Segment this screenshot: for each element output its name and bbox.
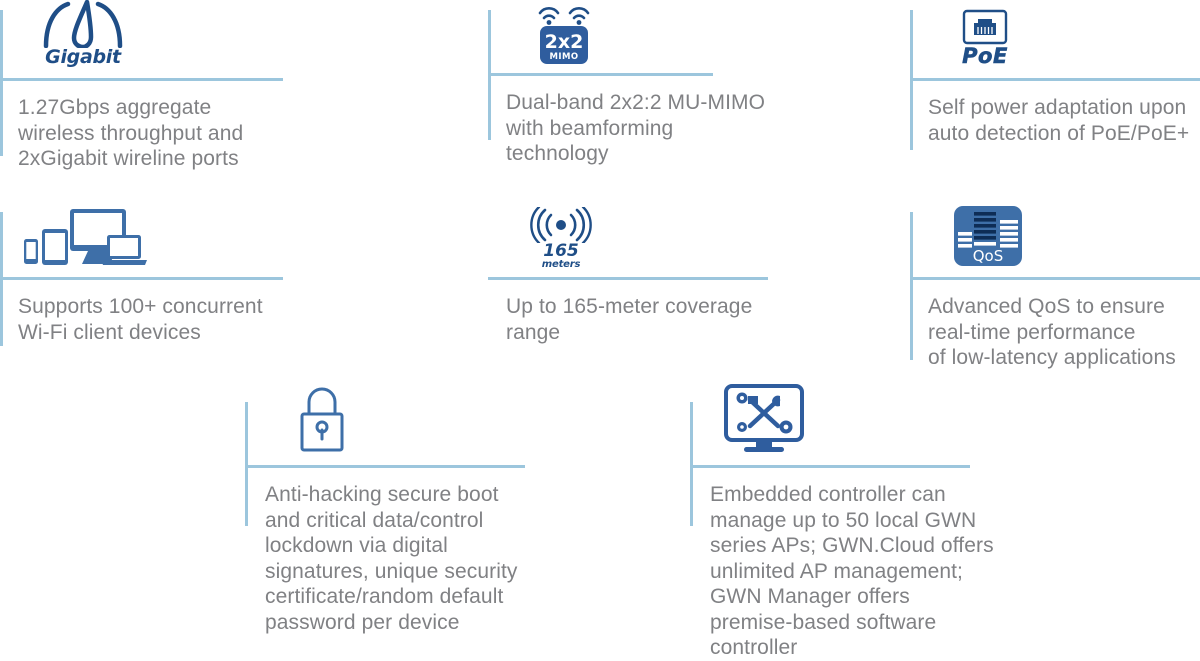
poe-icon-label: PoE: [962, 44, 1008, 68]
feature-description-gigabit: 1.27Gbps aggregate wireless throughput a…: [18, 95, 298, 172]
signal-range-icon: [530, 207, 592, 243]
poe-rj45-icon: [962, 9, 1008, 45]
panel-horizontal-rule: [910, 277, 1200, 280]
feature-description-qos: Advanced QoS to ensure real-time perform…: [928, 294, 1200, 371]
svg-text:QoS: QoS: [973, 247, 1004, 265]
feature-description-coverage: Up to 165-meter coverage range: [506, 294, 806, 345]
panel-vertical-rule: [0, 10, 3, 156]
padlock-icon: [293, 384, 351, 456]
feature-panel-poe: PoE Self power adaptation upon auto dete…: [910, 10, 1200, 175]
feature-panel-mimo: 2x2 MIMO Dual-band 2x2:2 MU-MIMO with be…: [488, 10, 788, 175]
poe-icon-wrap: PoE: [962, 4, 1042, 68]
padlock-icon-wrap: [293, 384, 373, 456]
svg-text:2x2: 2x2: [545, 31, 584, 53]
coverage-icon-label: 165: [543, 243, 579, 259]
panel-horizontal-rule: [0, 277, 283, 280]
panel-horizontal-rule: [245, 465, 525, 468]
multi-device-icon: [22, 207, 147, 269]
feature-description-clients: Supports 100+ concurrent Wi-Fi client de…: [18, 294, 318, 345]
gigabit-antenna-icon: [40, 0, 126, 48]
qos-equalizer-icon: QoS: [952, 204, 1024, 268]
feature-panel-qos: QoS Advanced QoS to ensure real-time per…: [910, 212, 1200, 372]
qos-icon-wrap: QoS: [952, 202, 1042, 268]
panel-horizontal-rule: [488, 73, 713, 76]
feature-panel-clients: Supports 100+ concurrent Wi-Fi client de…: [0, 212, 300, 362]
mimo-icon-wrap: 2x2 MIMO: [528, 0, 608, 66]
panel-vertical-rule: [245, 402, 248, 526]
panel-vertical-rule: [910, 212, 913, 360]
feature-panel-controller: Embedded controller can manage up to 50 …: [690, 402, 1010, 638]
monitor-tools-icon: [722, 382, 806, 456]
controller-icon-wrap: [722, 374, 817, 456]
feature-description-poe: Self power adaptation upon auto detectio…: [928, 95, 1200, 146]
gigabit-antenna-icon-wrap: Gigabit: [40, 0, 132, 68]
panel-horizontal-rule: [690, 465, 970, 468]
panel-horizontal-rule: [488, 277, 768, 280]
multi-device-icon-wrap: [22, 207, 152, 269]
svg-text:MIMO: MIMO: [550, 52, 579, 62]
feature-description-security: Anti-hacking secure boot and critical da…: [265, 482, 555, 635]
feature-grid: Gigabit 1.27Gbps aggregate wireless thro…: [0, 0, 1200, 638]
feature-panel-security: Anti-hacking secure boot and critical da…: [245, 402, 545, 638]
feature-panel-coverage: 165 meters Up to 165-meter coverage rang…: [488, 212, 788, 362]
coverage-icon-wrap: 165 meters: [530, 204, 620, 270]
feature-description-mimo: Dual-band 2x2:2 MU-MIMO with beamforming…: [506, 90, 806, 167]
feature-panel-gigabit: Gigabit 1.27Gbps aggregate wireless thro…: [0, 10, 300, 175]
2x2-mimo-icon: 2x2 MIMO: [528, 2, 604, 66]
coverage-icon-sublabel: meters: [542, 259, 580, 270]
panel-horizontal-rule: [0, 78, 283, 81]
panel-vertical-rule: [690, 402, 693, 526]
panel-horizontal-rule: [910, 78, 1200, 81]
feature-description-controller: Embedded controller can manage up to 50 …: [710, 482, 1020, 661]
gigabit-icon-label: Gigabit: [45, 46, 121, 68]
